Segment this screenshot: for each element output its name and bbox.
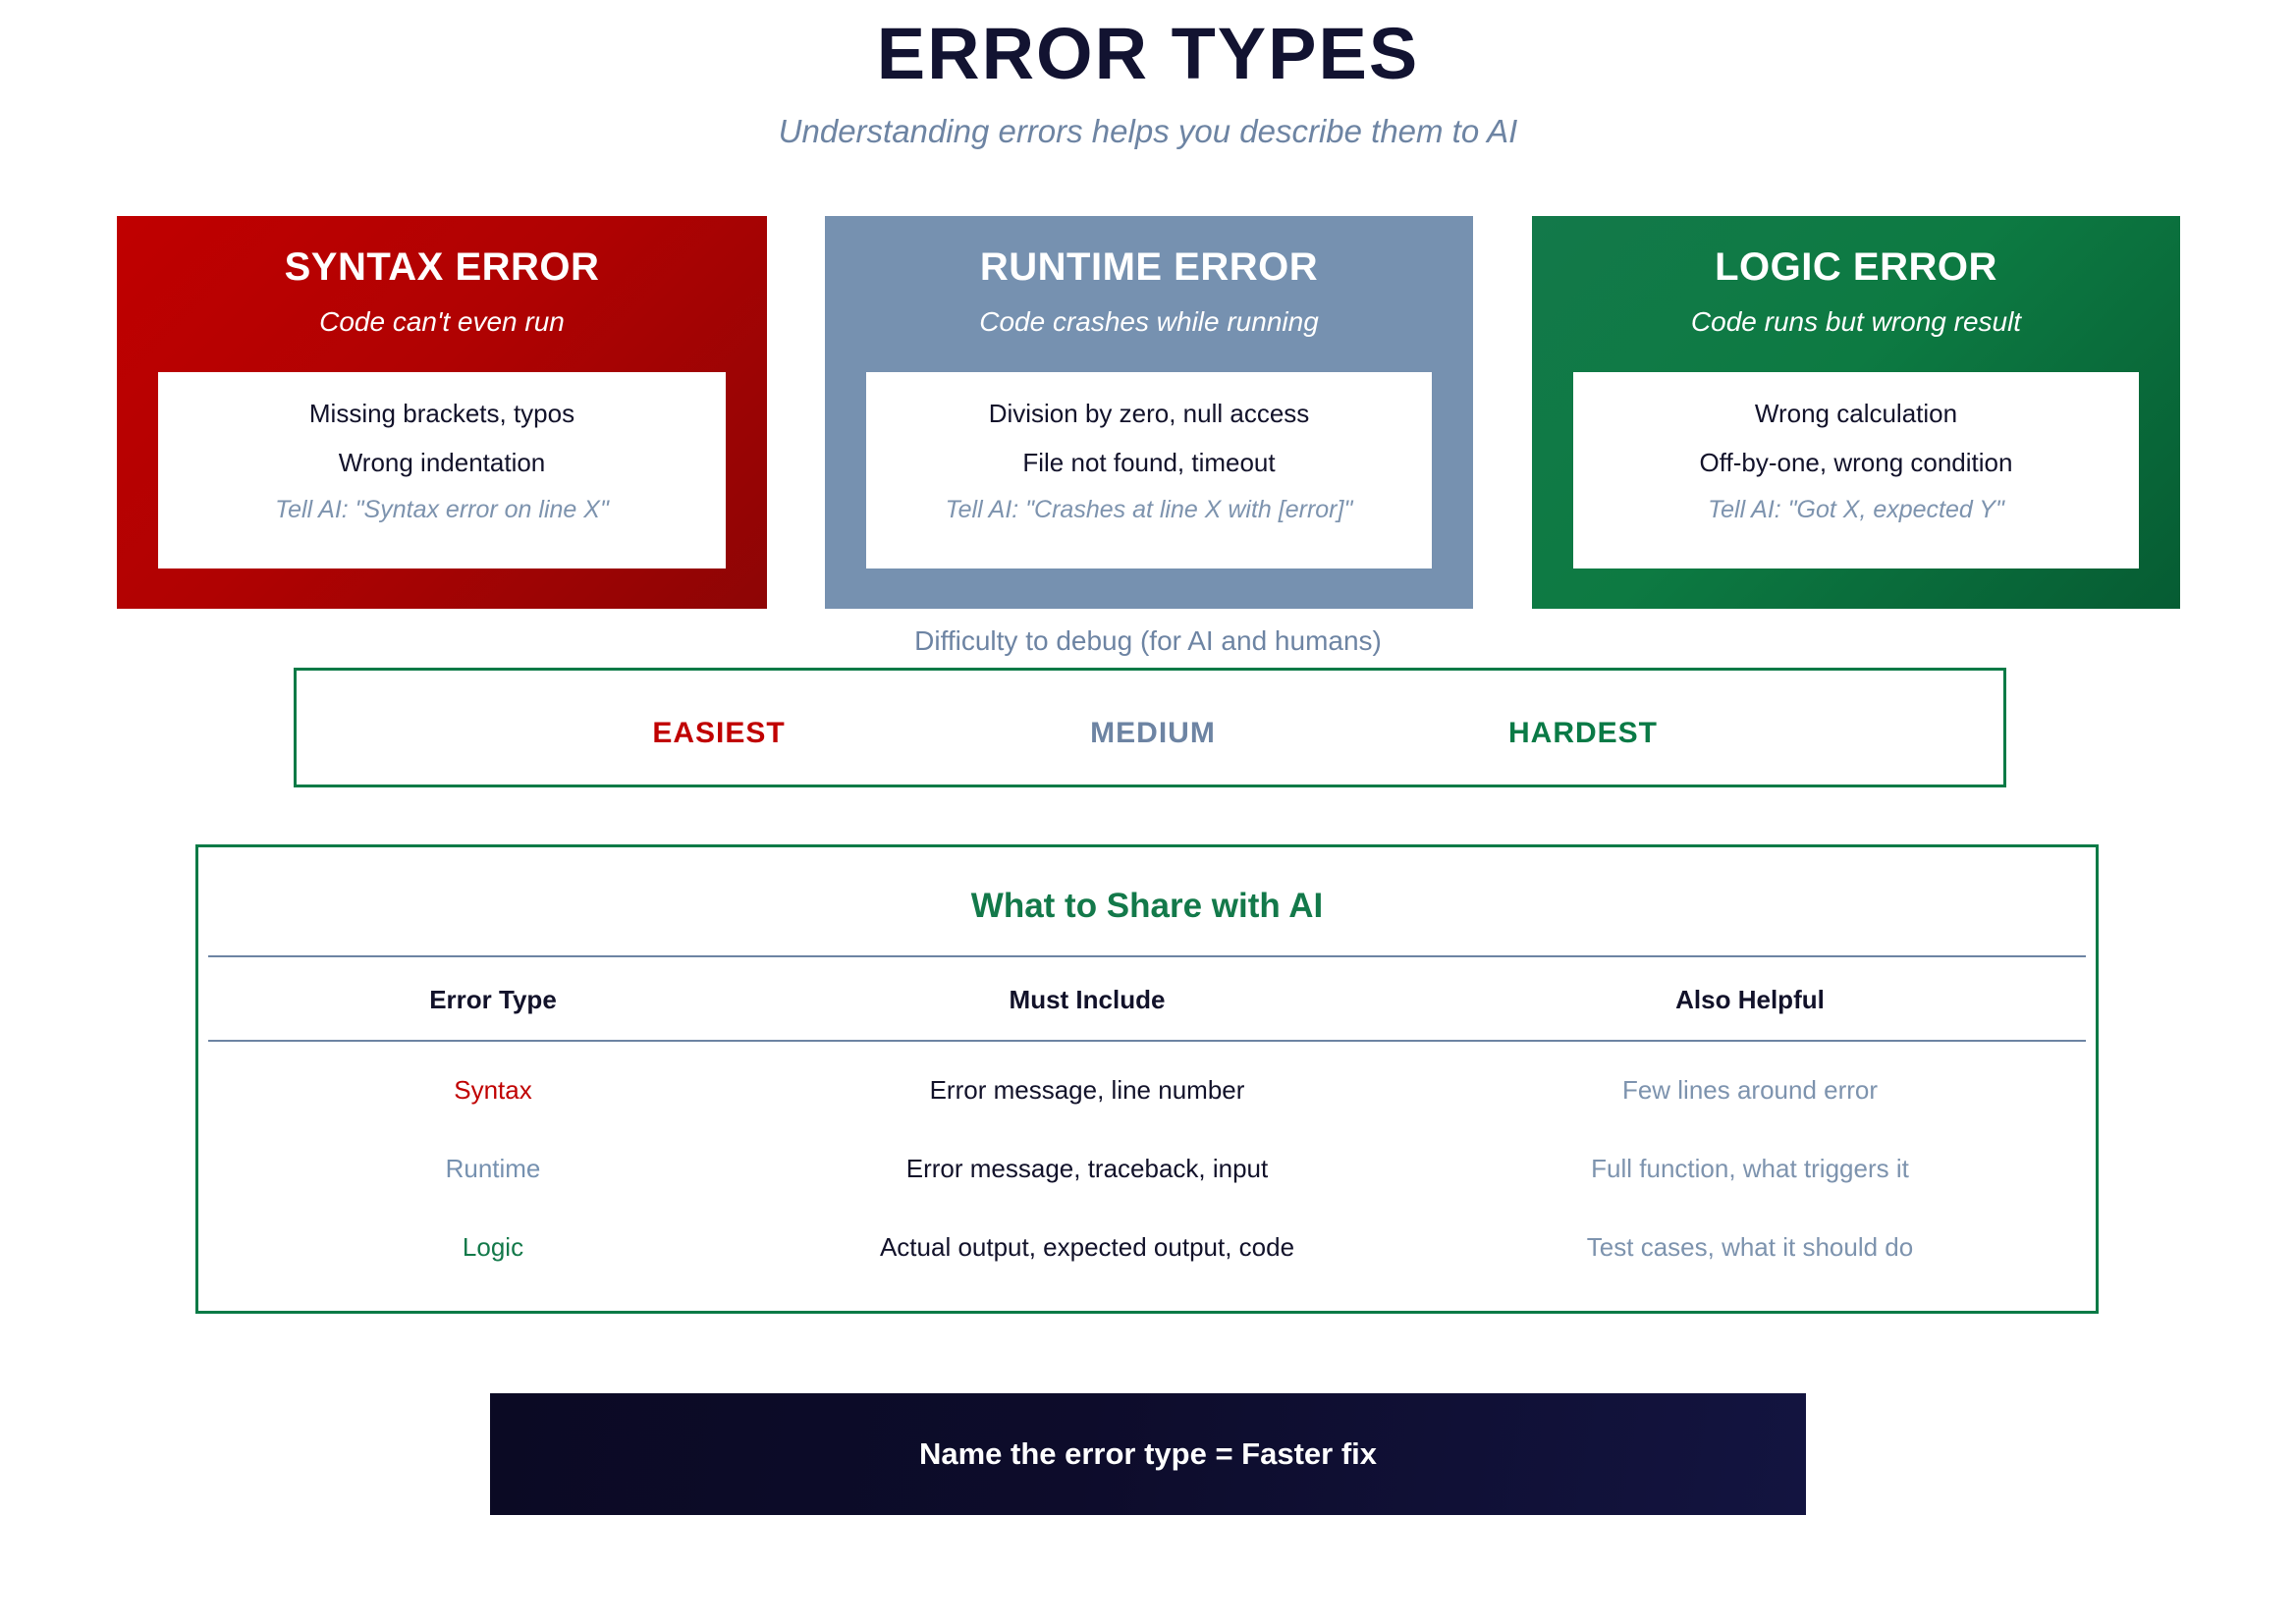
- difficulty-scale-bar: EASIEST MEDIUM HARDEST: [294, 668, 2006, 787]
- error-card-details: Division by zero, null access File not f…: [866, 372, 1432, 568]
- table-row: Syntax Error message, line number Few li…: [198, 1052, 2096, 1130]
- error-card-tagline: Code can't even run: [117, 306, 767, 338]
- error-card-ai-hint: Tell AI: "Got X, expected Y": [1573, 496, 2139, 524]
- difficulty-label-medium: MEDIUM: [1006, 717, 1300, 750]
- error-card-runtime: RUNTIME ERROR Code crashes while running…: [825, 216, 1473, 609]
- table-divider-header: [208, 1040, 2086, 1042]
- table-cell-must-include: Actual output, expected output, code: [699, 1232, 1475, 1263]
- table-cell-error-type: Syntax: [287, 1075, 699, 1106]
- error-card-example-1: Missing brackets, typos: [158, 399, 726, 429]
- page-title: ERROR TYPES: [0, 18, 2296, 90]
- error-card-details: Missing brackets, typos Wrong indentatio…: [158, 372, 726, 568]
- error-card-example-1: Wrong calculation: [1573, 399, 2139, 429]
- table-cell-also-helpful: Few lines around error: [1475, 1075, 2025, 1106]
- error-card-ai-hint: Tell AI: "Crashes at line X with [error]…: [866, 496, 1432, 524]
- error-card-title: LOGIC ERROR: [1532, 245, 2180, 290]
- error-card-example-2: Off-by-one, wrong condition: [1573, 448, 2139, 478]
- infographic-page: ERROR TYPES Understanding errors helps y…: [0, 0, 2296, 1624]
- error-card-details: Wrong calculation Off-by-one, wrong cond…: [1573, 372, 2139, 568]
- error-card-example-1: Division by zero, null access: [866, 399, 1432, 429]
- table-row: Logic Actual output, expected output, co…: [198, 1209, 2096, 1287]
- footer-banner-text: Name the error type = Faster fix: [490, 1393, 1806, 1515]
- error-card-title: SYNTAX ERROR: [117, 245, 767, 290]
- error-card-ai-hint: Tell AI: "Syntax error on line X": [158, 496, 726, 524]
- error-card-syntax: SYNTAX ERROR Code can't even run Missing…: [117, 216, 767, 609]
- error-card-tagline: Code runs but wrong result: [1532, 306, 2180, 338]
- table-cell-must-include: Error message, line number: [699, 1075, 1475, 1106]
- table-cell-also-helpful: Test cases, what it should do: [1475, 1232, 2025, 1263]
- footer-banner: Name the error type = Faster fix: [490, 1393, 1806, 1515]
- table-divider-top: [208, 955, 2086, 957]
- difficulty-label-easiest: EASIEST: [572, 717, 866, 750]
- error-card-example-2: Wrong indentation: [158, 448, 726, 478]
- table-cell-must-include: Error message, traceback, input: [699, 1154, 1475, 1184]
- share-panel-title: What to Share with AI: [198, 887, 2096, 926]
- difficulty-label-hardest: HARDEST: [1436, 717, 1730, 750]
- error-card-logic: LOGIC ERROR Code runs but wrong result W…: [1532, 216, 2180, 609]
- table-column-header-also-helpful: Also Helpful: [1475, 985, 2025, 1015]
- table-header-row: Error Type Must Include Also Helpful: [198, 961, 2096, 1040]
- table-row: Runtime Error message, traceback, input …: [198, 1130, 2096, 1209]
- table-cell-error-type: Runtime: [287, 1154, 699, 1184]
- table-column-header-must-include: Must Include: [699, 985, 1475, 1015]
- difficulty-caption: Difficulty to debug (for AI and humans): [0, 625, 2296, 657]
- error-card-title: RUNTIME ERROR: [825, 245, 1473, 290]
- page-subtitle: Understanding errors helps you describe …: [0, 113, 2296, 150]
- table-cell-also-helpful: Full function, what triggers it: [1475, 1154, 2025, 1184]
- table-column-header-error-type: Error Type: [287, 985, 699, 1015]
- error-card-tagline: Code crashes while running: [825, 306, 1473, 338]
- share-with-ai-panel: What to Share with AI Error Type Must In…: [195, 844, 2099, 1314]
- error-card-example-2: File not found, timeout: [866, 448, 1432, 478]
- table-cell-error-type: Logic: [287, 1232, 699, 1263]
